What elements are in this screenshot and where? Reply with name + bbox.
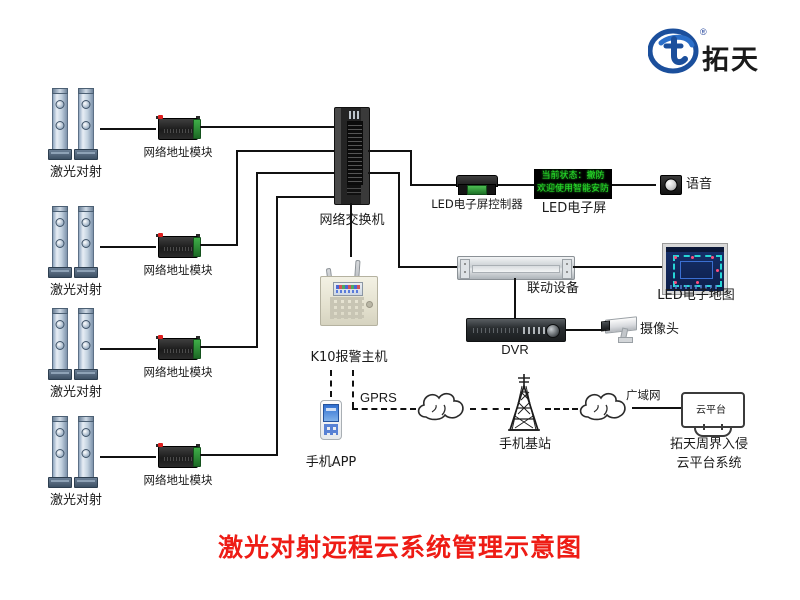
linkage-device (457, 256, 575, 280)
led-screen-line1: 当前状态：撤防 (535, 170, 611, 183)
mobile-phone-device (320, 400, 342, 440)
voice-speaker (660, 175, 682, 195)
link-switch-ledctl-a (368, 150, 412, 152)
cloud-platform-monitor: 云平台 (681, 392, 741, 436)
network-address-module-2-label: 网络地址模块 (110, 263, 246, 277)
link-gprs-a (352, 370, 354, 408)
led-display-screen: 当前状态：撤防 欢迎使用智能安防 (534, 169, 612, 199)
led-electronic-map-label: LED电子地图 (648, 288, 744, 304)
link-module2-switch-b (236, 150, 238, 246)
cloud-network-1 (412, 386, 472, 429)
link-module2-switch-c (236, 150, 338, 152)
cloud-icon (412, 386, 472, 424)
diagram-canvas: ® 拓天 激光对射 激光对射 激光对射 激光对射 (0, 0, 800, 600)
diagram-title: 激光对射远程云系统管理示意图 (0, 528, 800, 564)
dvr-label: DVR (489, 342, 541, 358)
laser-barrier-4-label: 激光对射 (30, 493, 122, 509)
link-switch-ledctl-b (410, 150, 412, 186)
link-ledctl-ledscreen (498, 184, 534, 186)
link-wan-platform (632, 407, 682, 409)
network-address-module-1-label: 网络地址模块 (110, 145, 246, 159)
laser-barrier-2-label: 激光对射 (30, 283, 122, 299)
link-module1-switch (200, 126, 338, 128)
tuotian-logo-icon (648, 26, 700, 76)
cell-base-station (498, 372, 550, 439)
led-display-screen-label: LED电子屏 (532, 201, 616, 217)
link-dvr-camera (566, 329, 604, 331)
network-switch-label: 网络交换机 (300, 213, 404, 229)
link-switch-linkage-c (398, 266, 458, 268)
link-module3-switch-c (256, 172, 338, 174)
laser-barrier-4 (52, 418, 98, 488)
laser-barrier-1 (52, 90, 98, 160)
link-gprs-b (352, 408, 416, 410)
link-switch-alarmhost (350, 203, 352, 257)
laser-barrier-2 (52, 208, 98, 278)
led-screen-controller-label: LED电子屏控制器 (416, 197, 538, 211)
network-address-module-4-label: 网络地址模块 (110, 473, 246, 487)
link-module3-switch-b (256, 172, 258, 348)
cloud-icon (574, 386, 634, 424)
cloud-platform-label-line2: 云平台系统 (648, 456, 770, 472)
brand-name: 拓天 (702, 38, 760, 77)
dvr-device (466, 318, 566, 342)
cloud-network-2 (574, 386, 634, 429)
network-switch (334, 107, 368, 203)
camera-label: 摄像头 (640, 322, 679, 338)
link-switch-linkage-a (368, 172, 400, 174)
linkage-device-label: 联动设备 (513, 281, 593, 297)
cloud-platform-screen-label: 云平台 (681, 401, 741, 416)
link-switch-ledctl-c (410, 184, 458, 186)
network-address-module-1 (155, 115, 201, 141)
alarm-host-k10 (320, 268, 376, 326)
cloud-platform-label-line1: 拓天周界入侵 (648, 437, 770, 453)
brand-logo: ® 拓天 (648, 26, 798, 78)
voice-speaker-label: 语音 (686, 177, 712, 193)
mobile-app-label: 手机APP (302, 455, 360, 471)
alarm-host-k10-label: K10报警主机 (300, 350, 398, 366)
network-address-module-2 (155, 233, 201, 259)
link-laser4-module4 (100, 456, 156, 458)
laser-barrier-3 (52, 310, 98, 380)
gprs-label: GPRS (360, 390, 397, 406)
network-address-module-3 (155, 335, 201, 361)
link-switch-linkage-b (398, 172, 400, 268)
network-address-module-3-label: 网络地址模块 (110, 365, 246, 379)
link-laser2-module2 (100, 246, 156, 248)
led-screen-controller (456, 173, 496, 195)
link-ledscreen-voice (612, 184, 656, 186)
camera-device (601, 316, 641, 342)
link-linkage-dvr (514, 278, 516, 320)
link-module4-switch-b (276, 196, 278, 456)
laser-barrier-3-label: 激光对射 (30, 385, 122, 401)
link-laser3-module3 (100, 348, 156, 350)
network-address-module-4 (155, 443, 201, 469)
link-module2-switch-a (200, 244, 238, 246)
link-linkage-ledmap (573, 266, 663, 268)
registered-trademark-icon: ® (700, 27, 707, 37)
link-laser1-module1 (100, 128, 156, 130)
led-screen-line2: 欢迎使用智能安防 (535, 183, 611, 196)
cell-tower-icon (498, 372, 550, 434)
link-module4-switch-c (276, 196, 338, 198)
link-module3-switch-a (200, 346, 258, 348)
cell-base-station-label: 手机基站 (489, 437, 561, 453)
laser-barrier-1-label: 激光对射 (30, 165, 122, 181)
link-module4-switch-a (200, 454, 278, 456)
